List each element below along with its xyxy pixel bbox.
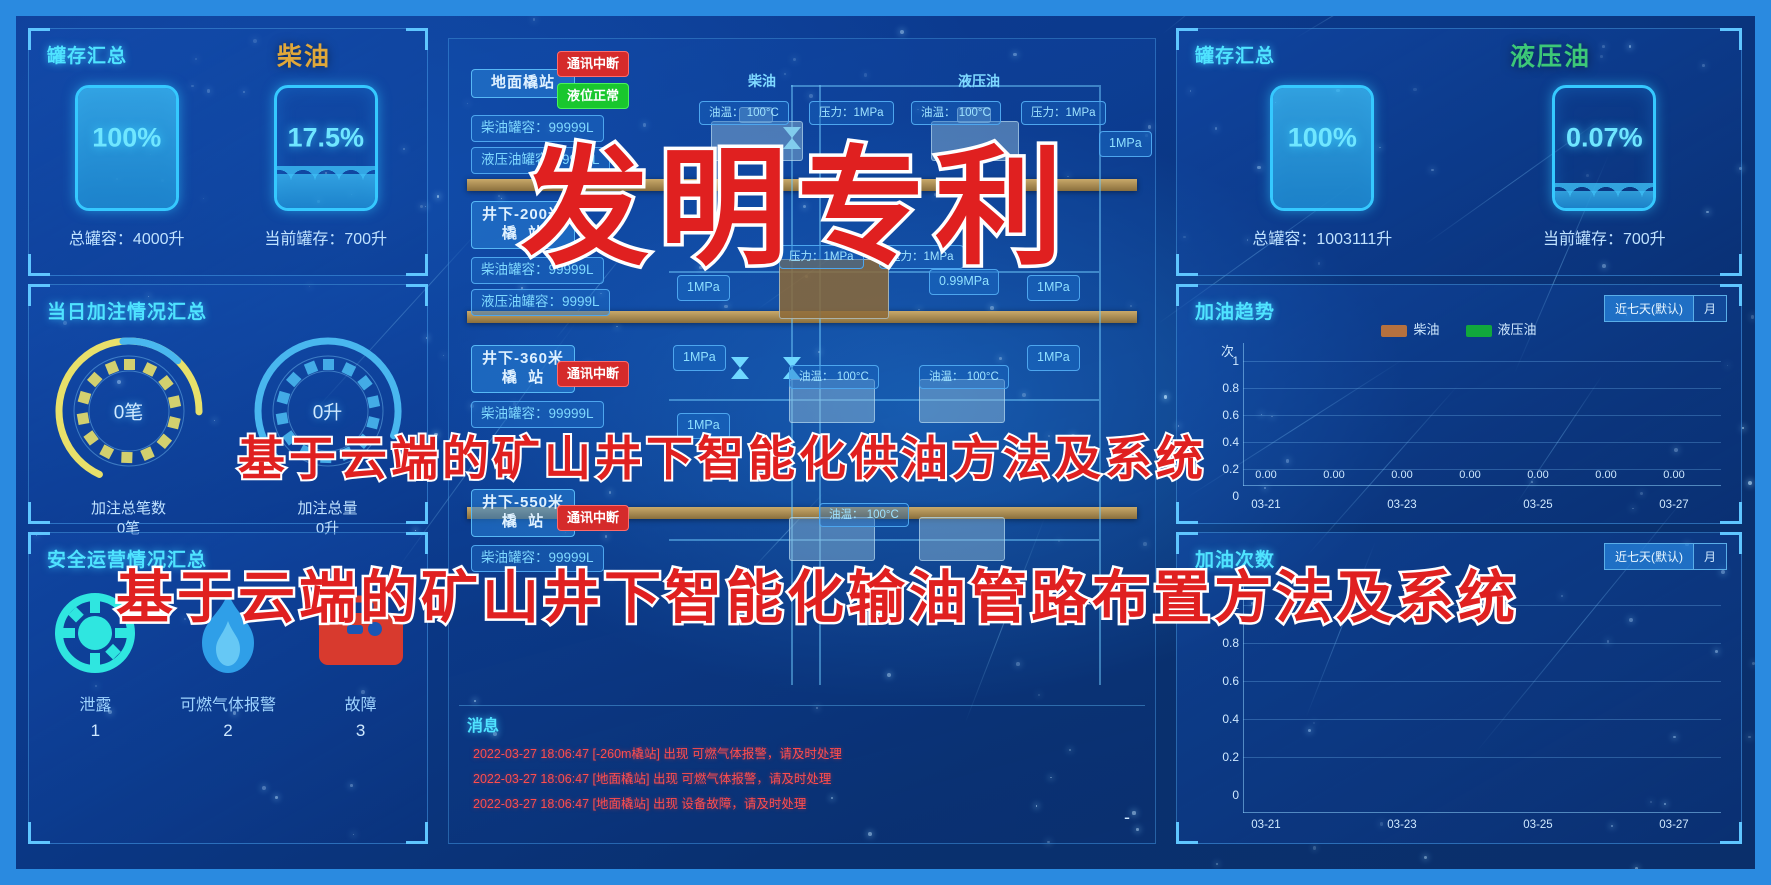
x-tick-label: 03-25 xyxy=(1523,819,1552,831)
grid-line xyxy=(1243,415,1721,416)
measurement-chip: 油温： 100°C xyxy=(819,503,909,527)
tank-gauge-row: 100% 总罐容：4000升 17.5% 当前罐存：700升 xyxy=(29,85,427,249)
station-badge-alarm: 通讯中断 xyxy=(557,361,629,387)
x-axis-line xyxy=(1243,812,1721,813)
point-label: 0.00 xyxy=(1459,469,1480,481)
safety-count: 2 xyxy=(168,721,288,741)
range-button-month[interactable]: 月 xyxy=(1694,543,1727,570)
tank-caption: 当前罐存：700升 xyxy=(264,225,387,249)
refuel-trend-panel: 加油趋势 近七天(默认) 月 柴油 液压油 次 1 xyxy=(1176,284,1742,524)
y-axis-line xyxy=(1243,343,1244,486)
product-name-hydraulic: 液压油 xyxy=(1510,37,1591,73)
message-log: 消息 2022-03-27 18:06:47 [-260m橇站] 出现 可燃气体… xyxy=(459,705,1145,835)
corner-decoration xyxy=(1720,28,1742,50)
point-label: 0.00 xyxy=(1391,469,1412,481)
tank-percent-value: 100% xyxy=(1273,123,1371,154)
corner-decoration xyxy=(406,284,428,306)
station-name-line1: 井下-360米 xyxy=(482,350,564,367)
safety-label: 泄露 xyxy=(35,691,155,715)
grid-line xyxy=(1243,719,1721,720)
corner-decoration xyxy=(28,254,50,276)
panel-title: 罐存汇总 xyxy=(47,41,127,68)
y-tick-label: 0.4 xyxy=(1201,712,1239,726)
tank-percent-value: 0.07% xyxy=(1555,123,1653,154)
tank-body: 100% xyxy=(1270,85,1374,211)
station-name-line2: 橇 站 xyxy=(502,369,544,386)
tank-gauge: 100% 总罐容：4000升 xyxy=(69,85,185,249)
ring-caption-line1: 加注总量 xyxy=(248,499,408,519)
pipe-horizontal xyxy=(669,399,1099,401)
watermark-patent-title: 发明专利 xyxy=(521,104,1073,289)
y-tick-label: 0 xyxy=(1201,489,1239,503)
station-name-line2: 橇 站 xyxy=(502,513,544,530)
ring-caption-line1: 加注总笔数 xyxy=(49,499,209,519)
legend-label-hydraulic: 液压油 xyxy=(1498,322,1537,337)
measurement-chip: 油温： 100°C xyxy=(789,365,879,389)
trend-range-buttons: 近七天(默认) 月 xyxy=(1604,295,1727,322)
tank-wave-decoration xyxy=(274,166,378,182)
corner-decoration xyxy=(1720,254,1742,276)
tank-gauge-row: 100% 总罐容：1003111升 0.07% 当前罐存：700升 xyxy=(1177,85,1741,249)
pressure-chip: 1MPa xyxy=(1027,345,1080,371)
corner-decoration xyxy=(1176,254,1198,276)
tank-gauge: 17.5% 当前罐存：700升 xyxy=(264,85,387,249)
point-label: 0.00 xyxy=(1663,469,1684,481)
corner-decoration xyxy=(406,502,428,524)
tank-body: 0.07% xyxy=(1552,85,1656,211)
pressure-chip: 1MPa xyxy=(1099,131,1152,157)
message-log-row: 2022-03-27 18:06:47 [-260m橇站] 出现 可燃气体报警，… xyxy=(459,740,1145,765)
range-button-week[interactable]: 近七天(默认) xyxy=(1604,543,1694,570)
watermark-line-1: 基于云端的矿山井下智能化供油方法及系统 xyxy=(238,420,1207,489)
center-product-label-hydraulic: 液压油 xyxy=(949,69,1009,95)
grid-line xyxy=(1243,757,1721,758)
legend-label-diesel: 柴油 xyxy=(1413,322,1439,337)
pressure-chip: 1MPa xyxy=(673,345,726,371)
tank-fill-level xyxy=(277,174,375,208)
x-tick-label: 03-21 xyxy=(1251,499,1280,511)
y-tick-label: 0.8 xyxy=(1201,636,1239,650)
ring-value: 0笔 xyxy=(49,398,209,425)
zoom-out-button[interactable]: - xyxy=(1117,809,1137,829)
corner-decoration xyxy=(406,254,428,276)
range-button-month[interactable]: 月 xyxy=(1694,295,1727,322)
trend-chart-plot: 次 1 0.8 0.6 0.4 0.2 0 0.00 0.00 0.00 0.0… xyxy=(1191,343,1727,515)
station-name-line1: 井下-550米 xyxy=(482,494,564,511)
corner-decoration xyxy=(28,822,50,844)
grid-line xyxy=(1243,681,1721,682)
point-label: 0.00 xyxy=(1255,469,1276,481)
safety-count: 1 xyxy=(35,721,155,741)
message-log-title: 消息 xyxy=(459,706,1145,740)
dashboard-board: 罐存汇总 柴油 100% 总罐容：4000升 17.5% xyxy=(16,16,1755,869)
corner-decoration xyxy=(406,822,428,844)
legend-item-diesel[interactable]: 柴油 xyxy=(1381,319,1439,338)
grid-line xyxy=(1243,643,1721,644)
y-tick-label: 1 xyxy=(1201,354,1239,368)
safety-label: 可燃气体报警 xyxy=(168,691,288,715)
safety-label: 故障 xyxy=(301,691,421,715)
y-tick-label: 0.2 xyxy=(1201,750,1239,764)
legend-swatch-diesel xyxy=(1381,325,1407,337)
x-tick-label: 03-25 xyxy=(1523,499,1552,511)
station-badge-alarm: 通讯中断 xyxy=(557,505,629,531)
panel-title: 罐存汇总 xyxy=(1195,41,1275,68)
tank-gauge: 0.07% 当前罐存：700升 xyxy=(1543,85,1666,249)
count-range-buttons: 近七天(默认) 月 xyxy=(1604,543,1727,570)
range-button-week[interactable]: 近七天(默认) xyxy=(1604,295,1694,322)
tank-percent-value: 17.5% xyxy=(277,123,375,154)
grid-line xyxy=(1243,469,1721,470)
legend-swatch-hydraulic xyxy=(1466,325,1492,337)
tank-fill-level xyxy=(1555,191,1653,208)
grid-line xyxy=(1243,388,1721,389)
pipe-horizontal xyxy=(791,85,1099,87)
point-label: 0.00 xyxy=(1527,469,1548,481)
corner-decoration xyxy=(28,502,50,524)
tank-body: 17.5% xyxy=(274,85,378,211)
pipe-horizontal xyxy=(669,539,1099,541)
y-tick-label: 0.6 xyxy=(1201,674,1239,688)
tank-caption: 总罐容：4000升 xyxy=(69,225,185,249)
watermark-line-2: 基于云端的矿山井下智能化输油管路布置方法及系统 xyxy=(116,552,1519,634)
legend-item-hydraulic[interactable]: 液压油 xyxy=(1466,319,1537,338)
center-product-label-diesel: 柴油 xyxy=(739,69,785,95)
grid-line xyxy=(1243,442,1721,443)
message-log-row: 2022-03-27 18:06:47 [地面橇站] 出现 可燃气体报警，请及时… xyxy=(459,765,1145,790)
y-tick-label: 0.8 xyxy=(1201,381,1239,395)
y-tick-label: 0 xyxy=(1201,788,1239,802)
tank-caption: 总罐容：1003111升 xyxy=(1252,225,1392,249)
station-badge-alarm: 通讯中断 xyxy=(557,51,629,77)
x-tick-label: 03-23 xyxy=(1387,499,1416,511)
right-tank-summary-panel: 罐存汇总 液压油 100% 总罐容：1003111升 0.07% xyxy=(1176,28,1742,276)
panel-title: 当日加注情况汇总 xyxy=(47,297,207,324)
tank-wave-decoration xyxy=(1552,183,1656,199)
message-log-row: 2022-03-27 18:06:47 [地面橇站] 出现 设备故障，请及时处理 xyxy=(459,790,1145,815)
left-tank-summary-panel: 罐存汇总 柴油 100% 总罐容：4000升 17.5% xyxy=(28,28,428,276)
x-tick-label: 03-27 xyxy=(1659,499,1688,511)
chart-legend: 柴油 液压油 xyxy=(1177,319,1741,338)
measurement-chip: 油温： 100°C xyxy=(919,365,1009,389)
x-tick-label: 03-27 xyxy=(1659,819,1688,831)
corner-decoration xyxy=(406,28,428,50)
grid-line xyxy=(1243,361,1721,362)
point-label: 0.00 xyxy=(1595,469,1616,481)
point-label: 0.00 xyxy=(1323,469,1344,481)
station-tank-info: 液压油罐容：9999L xyxy=(471,289,610,316)
safety-count: 3 xyxy=(301,721,421,741)
ring-gauge-count: 0笔 加注总笔数 0笔 xyxy=(49,331,209,491)
corner-decoration xyxy=(406,532,428,554)
product-name-diesel: 柴油 xyxy=(277,37,331,73)
tank-body: 100% xyxy=(75,85,179,211)
x-tick-label: 03-21 xyxy=(1251,819,1280,831)
x-axis-line xyxy=(1243,485,1721,486)
tank-caption: 当前罐存：700升 xyxy=(1543,225,1666,249)
x-tick-label: 03-23 xyxy=(1387,819,1416,831)
screen-root: 罐存汇总 柴油 100% 总罐容：4000升 17.5% xyxy=(0,0,1771,885)
tank-percent-value: 100% xyxy=(78,123,176,154)
tank-gauge: 100% 总罐容：1003111升 xyxy=(1252,85,1392,249)
